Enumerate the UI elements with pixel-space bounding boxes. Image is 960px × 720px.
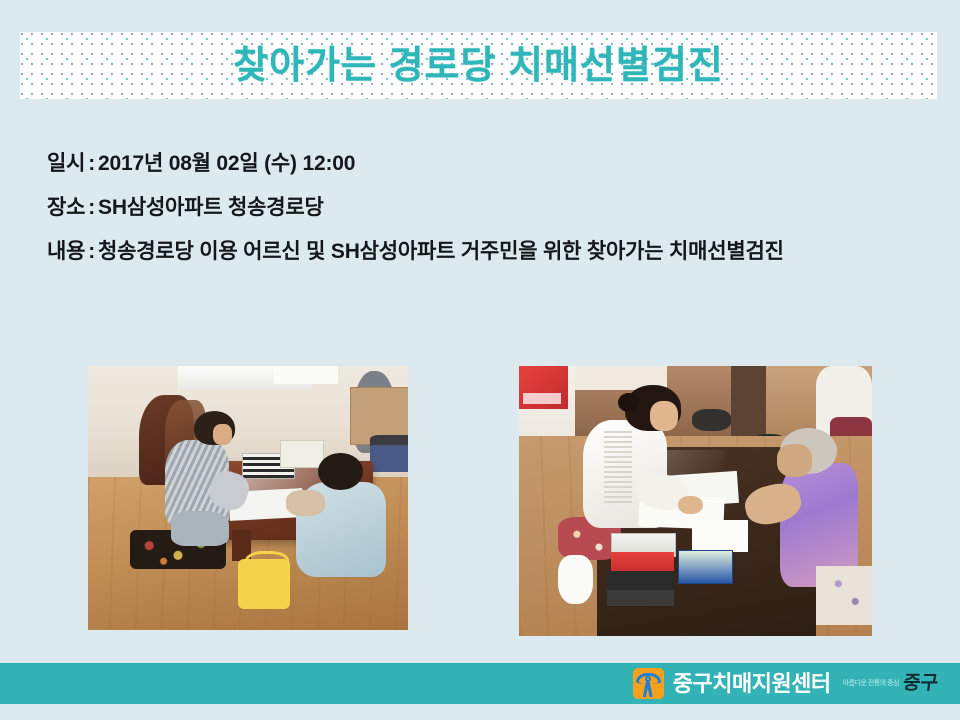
center-logo-icon [633, 668, 664, 699]
photo-right-shoes [692, 409, 731, 431]
info-line-place: 장소:SH삼성아파트 청송경로당 [47, 186, 917, 230]
photo-left [88, 366, 408, 630]
info-label-place: 장소 [47, 196, 85, 219]
photo-right-supply-box-2 [611, 552, 675, 571]
photo-right [519, 366, 872, 636]
info-line-content: 내용:청송경로당 이용 어르신 및 SH삼성아파트 거주민을 위한 찾아가는 치… [47, 230, 917, 274]
footer-branding: 중구치매지원센터 아름다운 전통의 중심 중구 [633, 668, 938, 699]
photo-right-staff-face [650, 401, 678, 431]
info-value-content: 청송경로당 이용 어르신 및 SH삼성아파트 거주민을 위한 찾아가는 치매선별… [98, 240, 784, 263]
photo-left-window-2 [274, 366, 338, 384]
photo-right-staff-hand [678, 496, 703, 515]
junggu-slogan: 아름다운 전통의 중심 [843, 680, 899, 687]
photo-right-staff-sock [558, 555, 593, 604]
photo-right-blue-box [678, 550, 733, 584]
photo-right-staff-hair-bun [618, 393, 639, 412]
info-separator-place: : [85, 196, 98, 219]
photo-right-elder-face [777, 444, 812, 476]
photo-left-rolled-mat [370, 445, 408, 471]
info-value-date: 2017년 08월 02일 (수) 12:00 [98, 152, 355, 175]
page-title: 찾아가는 경로당 치매선별검진 [233, 47, 724, 85]
photo-right-paper-3 [692, 520, 748, 552]
junggu-brush-mark: 아름다운 전통의 중심 중구 [843, 674, 938, 693]
photo-left-elder-head [318, 453, 363, 490]
junggu-wordmark: 중구 [902, 674, 939, 693]
info-label-content: 내용 [47, 240, 85, 263]
info-separator-date: : [85, 152, 98, 175]
organization-name: 중구치매지원센터 [673, 673, 831, 695]
footer-bar: 중구치매지원센터 아름다운 전통의 중심 중구 [0, 663, 960, 704]
photo-left-white-bag [280, 440, 324, 468]
photo-left-staff-face [213, 424, 232, 445]
info-separator-content: : [85, 240, 98, 263]
photo-right-poster-text [523, 393, 562, 404]
info-label-date: 일시 [47, 152, 85, 175]
logo-head-shape [645, 676, 651, 682]
photo-right-staff-lace-detail [604, 431, 632, 507]
photo-right-elder-pants [816, 566, 872, 625]
info-value-place: SH삼성아파트 청송경로당 [98, 196, 324, 219]
photo-left-elder-arm [286, 490, 324, 516]
info-line-date: 일시:2017년 08월 02일 (수) 12:00 [47, 142, 917, 186]
photo-left-yellow-bag [238, 559, 289, 609]
title-banner: 찾아가는 경로당 치매선별검진 [20, 32, 937, 99]
photo-left-staff-legs [171, 511, 229, 545]
event-info-block: 일시:2017년 08월 02일 (수) 12:00 장소:SH삼성아파트 청송… [47, 142, 917, 274]
photo-right-supply-box-4 [607, 590, 674, 606]
